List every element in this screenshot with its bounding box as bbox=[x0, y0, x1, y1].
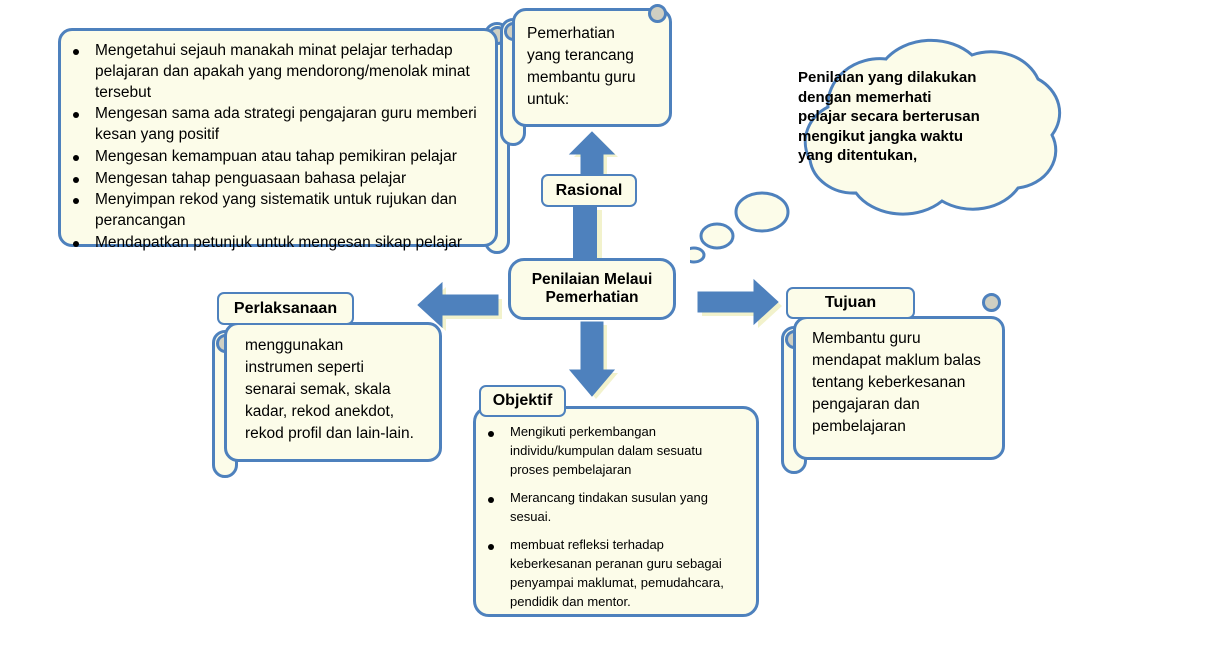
tujuan-line: Membantu guru bbox=[812, 328, 1002, 350]
top-scroll-body: Pemerhatian yang terancang membantu guru… bbox=[512, 8, 672, 127]
objektif-bullet-list: Mengikuti perkembangan individu/kumpulan… bbox=[476, 409, 756, 612]
perlaksanaan-line: kadar, rekod anekdot, bbox=[245, 401, 439, 423]
tujuan-text: Membantu guru mendapat maklum balas tent… bbox=[796, 319, 1002, 438]
list-item: Mendapatkan petunjuk untuk mengesan sika… bbox=[61, 233, 481, 254]
tujuan-body: Membantu guru mendapat maklum balas tent… bbox=[793, 316, 1005, 460]
top-scroll-line: membantu guru bbox=[527, 67, 669, 89]
center-node-line2: Pemerhatian bbox=[545, 289, 638, 307]
cloud-callout: Penilaian yang dilakukan dengan memerhat… bbox=[690, 20, 1090, 270]
list-item: Menyimpan rekod yang sistematik untuk ru… bbox=[61, 190, 481, 232]
perlaksanaan-line: instrumen seperti bbox=[245, 357, 439, 379]
top-scroll-line: yang terancang bbox=[527, 45, 669, 67]
cloud-line: mengikut jangka waktu bbox=[798, 127, 1028, 147]
label-rasional[interactable]: Rasional bbox=[541, 174, 637, 207]
label-tujuan[interactable]: Tujuan bbox=[786, 287, 915, 319]
cloud-callout-text: Penilaian yang dilakukan dengan memerhat… bbox=[798, 68, 1028, 166]
list-item: Mengetahui sejauh manakah minat pelajar … bbox=[61, 41, 481, 103]
center-node-line1: Penilaian Melaui bbox=[532, 271, 653, 289]
arrow-right-to-tujuan bbox=[694, 278, 784, 328]
scroll-curl-knob-right bbox=[648, 4, 667, 23]
tujuan-line: tentang keberkesanan bbox=[812, 372, 1002, 394]
perlaksanaan-line: senarai semak, skala bbox=[245, 379, 439, 401]
top-scroll-line: Pemerhatian bbox=[527, 23, 669, 45]
tujuan-line: pembelajaran bbox=[812, 416, 1002, 438]
list-item: Mengesan kemampuan atau tahap pemikiran … bbox=[61, 147, 481, 168]
perlaksanaan-body: menggunakan instrumen seperti senarai se… bbox=[224, 322, 442, 462]
tujuan-line: pengajaran dan bbox=[812, 394, 1002, 416]
cloud-line: dengan memerhati bbox=[798, 88, 1028, 108]
arrow-center-to-rasional bbox=[569, 206, 615, 262]
arrow-up-to-top-scroll bbox=[564, 128, 620, 180]
top-scroll-text: Pemerhatian yang terancang membantu guru… bbox=[515, 11, 669, 111]
perlaksanaan-line: rekod profil dan lain-lain. bbox=[245, 423, 439, 445]
cloud-line: pelajar secara berterusan bbox=[798, 107, 1028, 127]
rasional-list-body: Mengetahui sejauh manakah minat pelajar … bbox=[58, 28, 498, 247]
perlaksanaan-text: menggunakan instrumen seperti senarai se… bbox=[227, 325, 439, 445]
list-item: Mengesan sama ada strategi pengajaran gu… bbox=[61, 104, 481, 146]
label-objektif[interactable]: Objektif bbox=[479, 385, 566, 417]
rasional-bullet-list: Mengetahui sejauh manakah minat pelajar … bbox=[61, 31, 495, 254]
list-item: Mengikuti perkembangan individu/kumpulan… bbox=[476, 423, 742, 480]
list-item: Mengesan tahap penguasaan bahasa pelajar bbox=[61, 169, 481, 190]
label-perlaksanaan[interactable]: Perlaksanaan bbox=[217, 292, 354, 325]
arrow-down-to-objektif bbox=[562, 318, 626, 400]
cloud-line: Penilaian yang dilakukan bbox=[798, 68, 1028, 88]
list-item: membuat refleksi terhadap keberkesanan p… bbox=[476, 536, 742, 612]
perlaksanaan-line: menggunakan bbox=[245, 335, 439, 357]
objektif-body: Mengikuti perkembangan individu/kumpulan… bbox=[473, 406, 759, 617]
list-item: Merancang tindakan susulan yang sesuai. bbox=[476, 489, 742, 527]
tujuan-line: mendapat maklum balas bbox=[812, 350, 1002, 372]
center-node[interactable]: Penilaian Melaui Pemerhatian bbox=[508, 258, 676, 320]
scroll-curl-knob-right bbox=[982, 293, 1001, 312]
top-scroll-line: untuk: bbox=[527, 89, 669, 111]
diagram-canvas: Mengetahui sejauh manakah minat pelajar … bbox=[0, 0, 1218, 650]
cloud-line: yang ditentukan, bbox=[798, 146, 1028, 166]
